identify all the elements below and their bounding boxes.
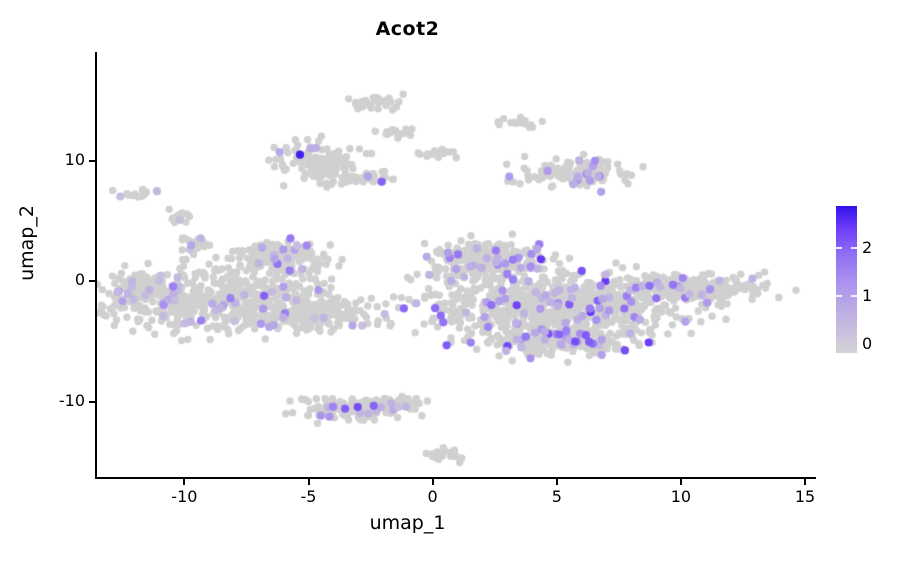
- y-tick-label: -10: [9, 391, 85, 410]
- y-tick-mark: [89, 280, 95, 282]
- colorbar-tick-1: [836, 295, 842, 297]
- colorbar-tick-2-right: [851, 247, 857, 249]
- x-tick-label: -5: [279, 487, 339, 506]
- x-axis-spine: [95, 477, 816, 479]
- colorbar-label-2: 2: [862, 238, 872, 257]
- x-tick-label: 10: [651, 487, 711, 506]
- x-tick-mark: [680, 479, 682, 485]
- y-axis-spine: [95, 52, 97, 479]
- x-tick-label: 0: [403, 487, 463, 506]
- x-tick-mark: [804, 479, 806, 485]
- figure: Acot2 -10-5051015 100-10 umap_1 umap_2 2…: [0, 0, 911, 562]
- scatter-plot-area[interactable]: [95, 52, 815, 478]
- x-tick-label: 5: [527, 487, 587, 506]
- y-axis-label: umap_2: [16, 183, 38, 303]
- x-axis-label: umap_1: [0, 512, 815, 534]
- y-tick-label: 10: [9, 150, 85, 169]
- x-tick-mark: [556, 479, 558, 485]
- colorbar-tick-1-right: [851, 295, 857, 297]
- x-tick-label: -10: [154, 487, 214, 506]
- y-tick-mark: [89, 160, 95, 162]
- colorbar: [836, 206, 857, 353]
- scatter-points-canvas: [95, 52, 815, 478]
- colorbar-label-0: 0: [862, 334, 872, 353]
- colorbar-tick-2: [836, 247, 842, 249]
- x-tick-mark: [308, 479, 310, 485]
- x-tick-mark: [432, 479, 434, 485]
- x-tick-mark: [183, 479, 185, 485]
- colorbar-label-1: 1: [862, 286, 872, 305]
- x-tick-label: 15: [775, 487, 835, 506]
- page-title: Acot2: [0, 18, 815, 40]
- y-tick-mark: [89, 401, 95, 403]
